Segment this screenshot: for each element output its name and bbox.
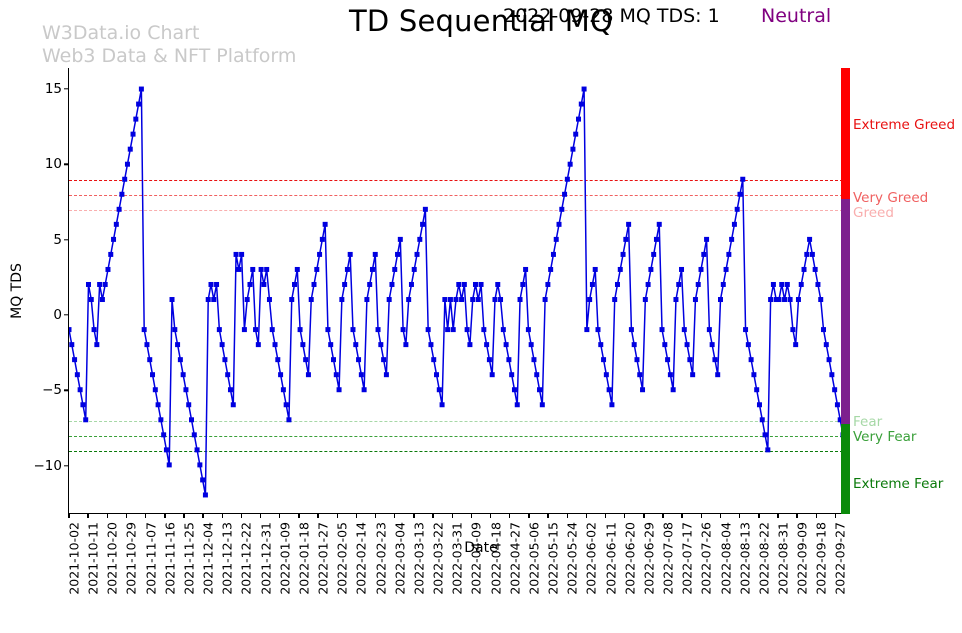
series-marker	[495, 282, 500, 287]
series-marker	[381, 357, 386, 362]
series-marker	[398, 237, 403, 242]
series-marker	[476, 297, 481, 302]
series-marker	[417, 237, 422, 242]
x-tick-mark	[279, 513, 280, 518]
series-marker	[685, 342, 690, 347]
series-marker	[462, 282, 467, 287]
series-marker	[153, 387, 158, 392]
series-marker	[749, 357, 754, 362]
series-marker	[309, 297, 314, 302]
series-marker	[431, 357, 436, 362]
series-marker	[286, 417, 291, 422]
x-tick-mark	[605, 513, 606, 518]
x-tick-label: 2021-10-02	[67, 522, 82, 595]
x-tick-label: 2022-02-14	[354, 522, 369, 595]
series-marker	[788, 297, 793, 302]
series-marker	[423, 207, 428, 212]
series-marker	[657, 222, 662, 227]
series-marker	[122, 177, 127, 182]
series-marker	[604, 372, 609, 377]
x-tick-label: 2021-10-20	[105, 522, 120, 595]
x-tick-label: 2021-12-13	[220, 522, 235, 595]
series-marker	[673, 297, 678, 302]
x-tick-label: 2022-01-27	[316, 522, 331, 595]
series-marker	[139, 87, 144, 92]
series-marker	[415, 252, 420, 257]
x-tick-mark	[720, 513, 721, 518]
series-marker	[89, 297, 94, 302]
series-marker	[142, 327, 147, 332]
series-marker	[584, 327, 589, 332]
y-tick-mark	[64, 390, 69, 391]
series-marker	[492, 297, 497, 302]
series-marker	[807, 237, 812, 242]
series-marker	[668, 372, 673, 377]
series-marker	[545, 282, 550, 287]
series-marker	[353, 342, 358, 347]
series-marker	[512, 387, 517, 392]
series-marker	[735, 207, 740, 212]
series-marker	[654, 237, 659, 242]
series-marker	[239, 252, 244, 257]
series-marker	[815, 282, 820, 287]
x-tick-mark	[758, 513, 759, 518]
x-tick-mark	[183, 513, 184, 518]
x-tick-label: 2022-06-20	[622, 522, 637, 595]
series-marker	[573, 132, 578, 137]
x-tick-mark	[68, 513, 69, 518]
colorbar-label-greed: Greed	[853, 205, 894, 221]
series-marker	[715, 372, 720, 377]
series-marker	[701, 252, 706, 257]
series-marker	[726, 252, 731, 257]
series-marker	[671, 387, 676, 392]
series-marker	[409, 282, 414, 287]
series-marker	[206, 297, 211, 302]
series-marker	[387, 297, 392, 302]
series-marker	[167, 462, 172, 467]
series-marker	[323, 222, 328, 227]
plot-inner	[69, 68, 843, 513]
series-marker	[559, 207, 564, 212]
series-marker	[699, 267, 704, 272]
series-marker	[156, 402, 161, 407]
series-marker	[760, 417, 765, 422]
x-tick-mark	[471, 513, 472, 518]
series-marker	[562, 192, 567, 197]
colorbar-label-very-fear: Very Fear	[853, 429, 916, 445]
series-marker	[331, 357, 336, 362]
x-tick-label: 2022-09-27	[833, 522, 848, 595]
series-marker	[827, 357, 832, 362]
series-marker	[690, 372, 695, 377]
series-marker	[696, 282, 701, 287]
series-marker	[634, 357, 639, 362]
series-marker	[278, 372, 283, 377]
series-marker	[342, 282, 347, 287]
series-marker	[548, 267, 553, 272]
x-tick-mark	[317, 513, 318, 518]
x-tick-label: 2021-10-29	[124, 522, 139, 595]
series-marker	[710, 342, 715, 347]
x-tick-mark	[643, 513, 644, 518]
series-marker	[197, 462, 202, 467]
series-marker	[523, 267, 528, 272]
series-marker	[587, 297, 592, 302]
series-marker	[367, 282, 372, 287]
series-marker	[520, 282, 525, 287]
x-tick-label: 2022-06-02	[584, 522, 599, 595]
series-marker	[247, 282, 252, 287]
x-tick-label: 2022-04-27	[507, 522, 522, 595]
series-marker	[225, 372, 230, 377]
x-tick-label: 2022-03-13	[411, 522, 426, 595]
series-marker	[651, 252, 656, 257]
series-marker	[640, 387, 645, 392]
series-marker	[570, 147, 575, 152]
series-marker	[103, 282, 108, 287]
series-marker	[526, 327, 531, 332]
x-tick-mark	[375, 513, 376, 518]
x-tick-mark	[835, 513, 836, 518]
series-marker	[267, 297, 272, 302]
series-marker	[437, 387, 442, 392]
series-marker	[704, 237, 709, 242]
series-marker	[211, 297, 216, 302]
y-tick-mark	[64, 465, 69, 466]
x-axis-label: Date	[464, 540, 497, 556]
chart-root: TD Sequential MQ W3Data.io Chart Web3 Da…	[0, 0, 962, 633]
series-marker	[178, 357, 183, 362]
series-marker	[100, 297, 105, 302]
series-marker	[348, 252, 353, 257]
series-marker	[757, 402, 762, 407]
series-marker	[498, 297, 503, 302]
series-marker	[264, 267, 269, 272]
series-marker	[83, 417, 88, 422]
series-marker	[356, 357, 361, 362]
series-marker	[306, 372, 311, 377]
series-marker	[629, 327, 634, 332]
series-marker	[782, 297, 787, 302]
series-marker	[534, 372, 539, 377]
series-marker	[796, 297, 801, 302]
y-tick-label: 0	[53, 307, 62, 323]
series-marker	[712, 357, 717, 362]
series-marker	[289, 297, 294, 302]
x-tick-label: 2022-06-29	[641, 522, 656, 595]
series-marker	[448, 297, 453, 302]
x-tick-mark	[432, 513, 433, 518]
x-tick-mark	[107, 513, 108, 518]
x-tick-label: 2022-07-26	[699, 522, 714, 595]
series-marker	[373, 252, 378, 257]
series-marker	[540, 402, 545, 407]
series-marker	[150, 372, 155, 377]
x-tick-label: 2021-11-16	[162, 522, 177, 595]
annotation-text: 2022-09-28 MQ TDS: 1	[503, 5, 720, 27]
series-marker	[506, 357, 511, 362]
series-marker	[440, 402, 445, 407]
series-marker	[565, 177, 570, 182]
x-tick-label: 2022-09-18	[814, 522, 829, 595]
series-marker	[776, 297, 781, 302]
series-line-mq-tds	[69, 68, 843, 513]
series-marker	[623, 237, 628, 242]
y-axis-label: MQ TDS	[9, 263, 25, 319]
x-tick-label: 2022-05-24	[565, 522, 580, 595]
x-tick-mark	[298, 513, 299, 518]
series-marker	[643, 297, 648, 302]
series-marker	[376, 327, 381, 332]
series-marker	[189, 417, 194, 422]
series-marker	[467, 342, 472, 347]
colorbar-label-fear: Fear	[853, 414, 882, 430]
series-marker	[518, 297, 523, 302]
series-marker	[420, 222, 425, 227]
x-tick-label: 2022-07-08	[661, 522, 676, 595]
series-marker	[395, 252, 400, 257]
series-marker	[509, 372, 514, 377]
series-marker	[217, 327, 222, 332]
series-marker	[292, 282, 297, 287]
colorbar-label-extreme-greed: Extreme Greed	[853, 117, 955, 133]
x-tick-mark	[356, 513, 357, 518]
series-marker	[737, 192, 742, 197]
series-marker	[259, 267, 264, 272]
series-marker	[337, 387, 342, 392]
series-marker	[785, 282, 790, 287]
x-tick-mark	[681, 513, 682, 518]
series-marker	[328, 342, 333, 347]
series-marker	[250, 267, 255, 272]
series-marker	[105, 267, 110, 272]
x-tick-mark	[816, 513, 817, 518]
series-marker	[829, 372, 834, 377]
series-marker	[568, 162, 573, 167]
series-marker	[350, 327, 355, 332]
series-marker	[543, 297, 548, 302]
series-marker	[582, 87, 587, 92]
series-marker	[487, 357, 492, 362]
series-marker	[676, 282, 681, 287]
x-tick-label: 2022-05-06	[526, 522, 541, 595]
x-tick-label: 2022-09-09	[795, 522, 810, 595]
x-tick-mark	[164, 513, 165, 518]
series-marker	[300, 342, 305, 347]
series-marker	[515, 402, 520, 407]
x-tick-mark	[145, 513, 146, 518]
series-marker	[114, 222, 119, 227]
series-marker	[117, 207, 122, 212]
x-tick-mark	[126, 513, 127, 518]
series-marker	[128, 147, 133, 152]
series-marker	[403, 342, 408, 347]
series-marker	[195, 447, 200, 452]
series-marker	[131, 132, 136, 137]
series-marker	[665, 357, 670, 362]
x-tick-mark	[701, 513, 702, 518]
x-tick-label: 2022-03-04	[392, 522, 407, 595]
series-marker	[295, 267, 300, 272]
series-marker	[345, 267, 350, 272]
series-marker	[679, 267, 684, 272]
series-marker	[504, 342, 509, 347]
series-marker	[732, 222, 737, 227]
watermark-line-2: Web3 Data & NFT Platform	[42, 45, 296, 67]
series-marker	[465, 327, 470, 332]
x-tick-label: 2022-08-22	[756, 522, 771, 595]
series-marker	[601, 357, 606, 362]
x-tick-mark	[87, 513, 88, 518]
series-marker	[158, 417, 163, 422]
series-marker	[270, 327, 275, 332]
x-tick-label: 2021-12-22	[239, 522, 254, 595]
series-marker	[768, 297, 773, 302]
series-marker	[69, 342, 74, 347]
series-marker	[261, 282, 266, 287]
series-marker	[401, 327, 406, 332]
series-marker	[707, 327, 712, 332]
series-marker	[531, 357, 536, 362]
x-tick-mark	[260, 513, 261, 518]
series-marker	[92, 327, 97, 332]
series-marker	[818, 297, 823, 302]
series-marker	[389, 282, 394, 287]
colorbar-fear-band	[841, 424, 850, 514]
series-marker	[612, 297, 617, 302]
series-marker	[456, 282, 461, 287]
x-tick-label: 2022-04-09	[469, 522, 484, 595]
series-marker	[793, 342, 798, 347]
series-path	[69, 89, 843, 495]
series-marker	[203, 492, 208, 497]
series-marker	[824, 342, 829, 347]
x-tick-mark	[796, 513, 797, 518]
series-marker	[234, 252, 239, 257]
series-marker	[632, 342, 637, 347]
series-marker	[537, 387, 542, 392]
series-marker	[579, 102, 584, 107]
y-tick-mark	[64, 239, 69, 240]
series-marker	[426, 327, 431, 332]
series-marker	[370, 267, 375, 272]
series-marker	[412, 267, 417, 272]
series-marker	[222, 357, 227, 362]
x-tick-mark	[241, 513, 242, 518]
series-marker	[320, 237, 325, 242]
y-tick-mark	[64, 164, 69, 165]
series-marker	[779, 282, 784, 287]
x-tick-mark	[394, 513, 395, 518]
colorbar-label-extreme-fear: Extreme Fear	[853, 476, 943, 492]
series-marker	[72, 357, 77, 362]
x-tick-label: 2022-02-23	[373, 522, 388, 595]
plot-area: 151050−5−10 2021-10-022021-10-112021-10-…	[68, 68, 843, 514]
x-tick-mark	[337, 513, 338, 518]
series-marker	[78, 387, 83, 392]
series-marker	[754, 387, 759, 392]
x-tick-mark	[490, 513, 491, 518]
x-tick-mark	[222, 513, 223, 518]
series-marker	[554, 237, 559, 242]
series-marker	[220, 342, 225, 347]
series-marker	[314, 267, 319, 272]
series-marker	[618, 267, 623, 272]
y-tick-mark	[64, 314, 69, 315]
series-marker	[384, 372, 389, 377]
series-marker	[245, 297, 250, 302]
annotation-state-badge: Neutral	[761, 5, 831, 27]
series-marker	[236, 267, 241, 272]
series-marker	[119, 192, 124, 197]
series-marker	[810, 252, 815, 257]
series-marker	[804, 252, 809, 257]
x-tick-label: 2022-01-18	[296, 522, 311, 595]
x-tick-mark	[547, 513, 548, 518]
series-marker	[253, 327, 258, 332]
x-tick-label: 2022-05-15	[546, 522, 561, 595]
series-marker	[593, 267, 598, 272]
y-tick-mark	[64, 88, 69, 89]
series-marker	[835, 402, 840, 407]
series-marker	[501, 327, 506, 332]
series-marker	[359, 372, 364, 377]
x-tick-label: 2021-12-31	[258, 522, 273, 595]
series-marker	[275, 357, 280, 362]
y-tick-label: −5	[42, 382, 62, 398]
series-marker	[406, 297, 411, 302]
series-marker	[75, 372, 80, 377]
series-marker	[242, 327, 247, 332]
series-marker	[751, 372, 756, 377]
series-marker	[161, 432, 166, 437]
series-marker	[637, 372, 642, 377]
x-tick-mark	[413, 513, 414, 518]
series-marker	[551, 252, 556, 257]
x-tick-label: 2021-12-04	[201, 522, 216, 595]
x-tick-label: 2022-04-18	[488, 522, 503, 595]
series-marker	[231, 402, 236, 407]
series-marker	[175, 342, 180, 347]
series-marker	[621, 252, 626, 257]
x-tick-label: 2021-11-07	[143, 522, 158, 595]
series-marker	[615, 282, 620, 287]
series-marker	[181, 372, 186, 377]
series-marker	[799, 282, 804, 287]
series-marker	[339, 297, 344, 302]
series-marker	[334, 372, 339, 377]
series-marker	[490, 372, 495, 377]
series-marker	[434, 372, 439, 377]
series-marker	[832, 387, 837, 392]
series-marker	[144, 342, 149, 347]
series-marker	[136, 102, 141, 107]
series-marker	[445, 327, 450, 332]
x-tick-mark	[528, 513, 529, 518]
colorbar-label-very-greed: Very Greed	[853, 190, 928, 206]
series-marker	[598, 342, 603, 347]
series-marker	[442, 297, 447, 302]
series-marker	[325, 327, 330, 332]
series-marker	[312, 282, 317, 287]
series-marker	[451, 327, 456, 332]
x-tick-mark	[452, 513, 453, 518]
series-marker	[392, 267, 397, 272]
x-tick-label: 2022-01-09	[277, 522, 292, 595]
x-tick-label: 2022-08-13	[737, 522, 752, 595]
series-marker	[821, 327, 826, 332]
